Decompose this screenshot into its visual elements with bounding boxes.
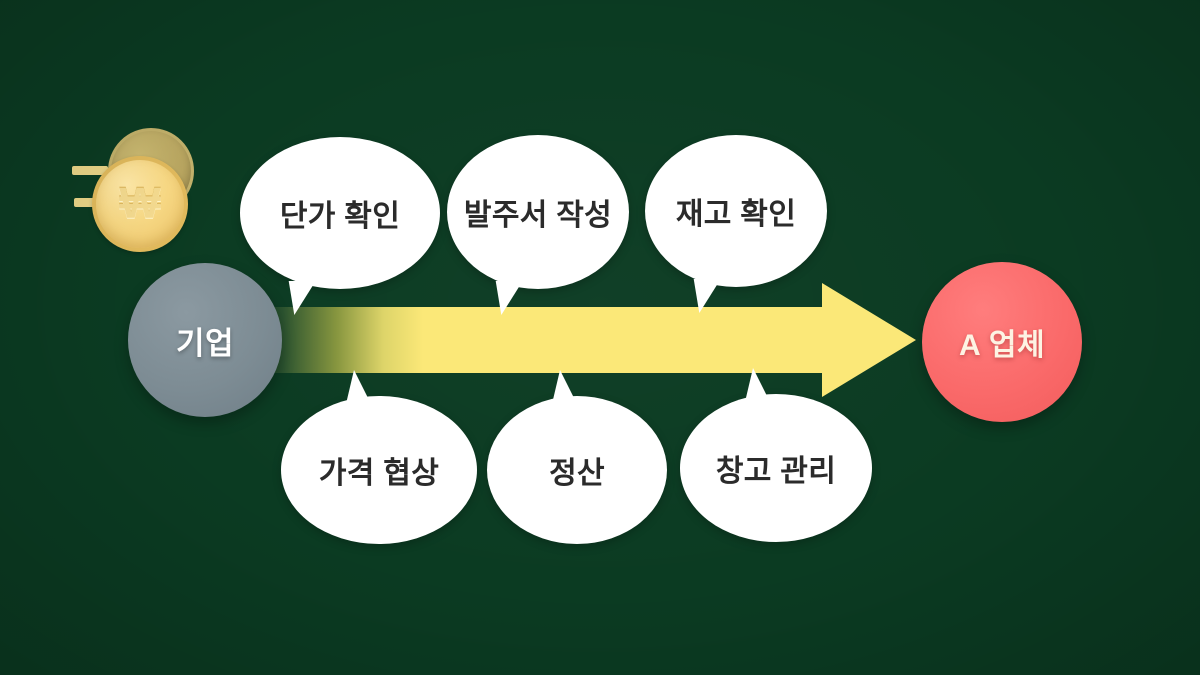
- speech-bubble-top-1-label: 단가 확인: [280, 191, 400, 235]
- diagram-canvas: ₩ 기업 A 업체 단가 확인 발주: [0, 0, 1200, 675]
- coin-front-icon: ₩: [92, 156, 188, 252]
- speech-bubble-bottom-2[interactable]: 정산: [487, 396, 667, 544]
- speech-bubble-top-3-label: 재고 확인: [676, 189, 796, 233]
- won-symbol: ₩: [119, 182, 161, 226]
- speech-bubble-top-1[interactable]: 단가 확인: [240, 137, 440, 289]
- coin-stack-icon: ₩: [64, 126, 214, 256]
- speech-bubble-bottom-2-label: 정산: [549, 448, 605, 492]
- speech-bubble-bottom-1[interactable]: 가격 협상: [281, 396, 477, 544]
- speech-bubble-top-3[interactable]: 재고 확인: [645, 135, 827, 287]
- speech-bubble-bottom-3-label: 창고 관리: [716, 446, 836, 490]
- node-company-label: 기업: [176, 318, 234, 363]
- speech-bubble-top-2[interactable]: 발주서 작성: [447, 135, 629, 289]
- node-vendor[interactable]: A 업체: [922, 262, 1082, 422]
- speech-bubble-bottom-1-label: 가격 협상: [319, 448, 439, 492]
- speech-bubble-bottom-3[interactable]: 창고 관리: [680, 394, 872, 542]
- speech-bubble-top-2-label: 발주서 작성: [464, 190, 612, 234]
- node-company[interactable]: 기업: [128, 263, 282, 417]
- node-vendor-label: A 업체: [959, 320, 1045, 364]
